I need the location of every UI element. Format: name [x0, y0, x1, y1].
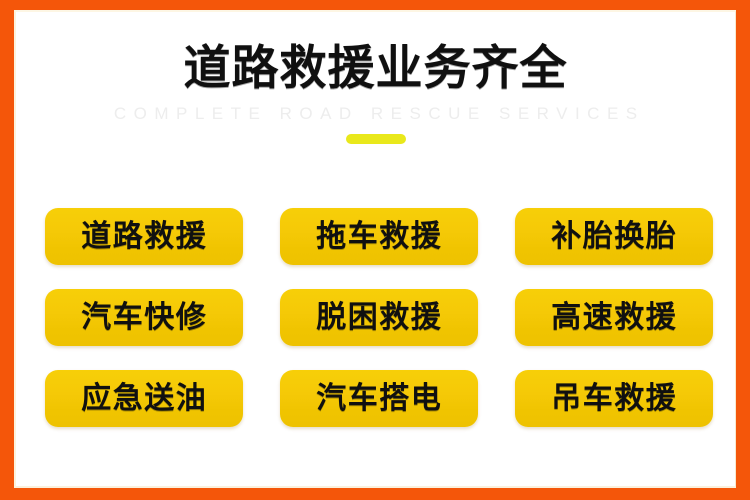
accent-bar-container	[16, 122, 735, 144]
service-chip-label: 应急送油	[80, 384, 208, 414]
service-chip-label: 吊车救援	[550, 384, 678, 414]
service-chip-label: 汽车搭电	[315, 384, 443, 414]
service-chip-highway-rescue[interactable]: 高速救援	[515, 289, 713, 346]
service-chip-extrication-rescue[interactable]: 脱困救援	[280, 289, 478, 346]
service-chip-quick-car-repair[interactable]: 汽车快修	[45, 289, 243, 346]
service-chip-label: 拖车救援	[315, 222, 443, 252]
service-chip-tow-rescue[interactable]: 拖车救援	[280, 208, 478, 265]
poster-header: 道路救援业务齐全 COMPLETE ROAD RESCUE SERVICES	[16, 12, 735, 144]
poster-frame: 道路救援业务齐全 COMPLETE ROAD RESCUE SERVICES 道…	[0, 0, 750, 500]
service-chip-label: 汽车快修	[80, 303, 208, 333]
page-subtitle: COMPLETE ROAD RESCUE SERVICES	[16, 94, 735, 122]
service-chip-label: 脱困救援	[315, 303, 443, 333]
service-chip-label: 补胎换胎	[550, 222, 678, 252]
service-chip-road-rescue[interactable]: 道路救援	[45, 208, 243, 265]
poster-canvas: 道路救援业务齐全 COMPLETE ROAD RESCUE SERVICES 道…	[14, 10, 736, 488]
service-chip-emergency-fuel-delivery[interactable]: 应急送油	[45, 370, 243, 427]
service-chip-jump-start[interactable]: 汽车搭电	[280, 370, 478, 427]
service-grid: 道路救援 拖车救援 补胎换胎 汽车快修 脱困救援 高速救援 应急送油 汽车搭电	[44, 208, 713, 427]
accent-bar	[346, 134, 406, 144]
service-chip-crane-rescue[interactable]: 吊车救援	[515, 370, 713, 427]
page-title: 道路救援业务齐全	[16, 12, 735, 94]
service-chip-label: 高速救援	[550, 303, 678, 333]
service-chip-label: 道路救援	[80, 222, 208, 252]
service-chip-tire-repair-change[interactable]: 补胎换胎	[515, 208, 713, 265]
